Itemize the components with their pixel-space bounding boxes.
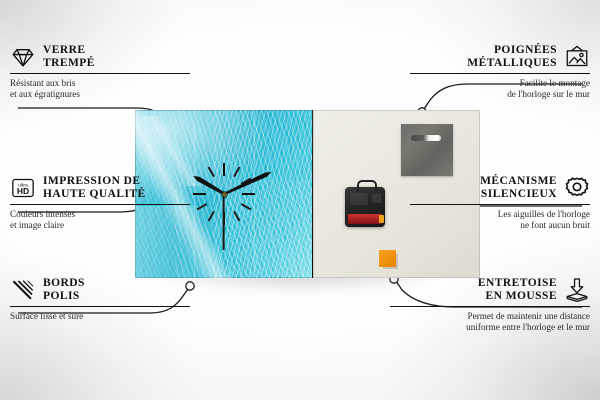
callout-header: ultra HD IMPRESSION DEHAUTE QUALITÉ [10, 175, 190, 201]
diagonal-lines-icon [10, 277, 36, 303]
callout-title: IMPRESSION DEHAUTE QUALITÉ [43, 175, 146, 201]
callout-subtitle: Les aiguilles de l'horlogene font aucun … [410, 209, 590, 231]
clock-second-hand [223, 194, 225, 250]
foam-spacer-pad [379, 250, 396, 267]
callout-rule [410, 73, 590, 74]
callout-title: MÉCANISMESILENCIEUX [480, 175, 557, 201]
mechanism-detail [350, 193, 368, 205]
callout-title: ENTRETOISEEN MOUSSE [478, 277, 557, 303]
callout-rule [10, 204, 190, 205]
callout-header: BORDSPOLIS [10, 277, 190, 303]
callout-subtitle: Facilite le montagede l'horloge sur le m… [410, 78, 590, 100]
callout-header: POIGNÉESMÉTALLIQUES [410, 44, 590, 70]
ultra-hd-icon: ultra HD [10, 175, 36, 201]
callout-mecanisme-silencieux: MÉCANISMESILENCIEUX Les aiguilles de l'h… [410, 175, 590, 231]
callout-header: ENTRETOISEEN MOUSSE [390, 277, 590, 303]
callout-bords-polis: BORDSPOLIS Surface lisse et sûre [10, 277, 190, 322]
arrow-down-layers-icon [564, 277, 590, 303]
callout-title: BORDSPOLIS [43, 277, 85, 303]
ultra-hd-icon-large-text: HD [17, 186, 29, 196]
mechanism-detail [372, 194, 381, 203]
hanger-keyhole-slot [411, 135, 441, 141]
callout-header: MÉCANISMESILENCIEUX [410, 175, 590, 201]
hanging-frame-icon [564, 44, 590, 70]
callout-poignees-metalliques: POIGNÉESMÉTALLIQUES Facilite le montaged… [410, 44, 590, 100]
mechanism-hanging-loop [357, 180, 377, 192]
callout-title: VERRETREMPÉ [43, 44, 95, 70]
battery-terminal [379, 215, 384, 223]
metal-hanger-plate [401, 124, 453, 176]
callout-title: POIGNÉESMÉTALLIQUES [467, 44, 557, 70]
callout-subtitle: Permet de maintenir une distanceuniforme… [390, 311, 590, 333]
callout-subtitle: Résistant aux briset aux égratignures [10, 78, 190, 100]
callout-entretoise-mousse: ENTRETOISEEN MOUSSE Permet de maintenir … [390, 277, 590, 333]
diamond-icon [10, 44, 36, 70]
callout-verre-trempe: VERRETREMPÉ Résistant aux briset aux égr… [10, 44, 190, 100]
callout-subtitle: Surface lisse et sûre [10, 311, 190, 322]
callout-rule [10, 73, 190, 74]
callout-impression-hd: ultra HD IMPRESSION DEHAUTE QUALITÉ Coul… [10, 175, 190, 231]
callout-rule [10, 306, 190, 307]
clock-center-cap [222, 192, 227, 197]
gear-icon [564, 175, 590, 201]
callout-rule [410, 204, 590, 205]
quartz-mechanism-box [345, 187, 385, 227]
battery [348, 214, 382, 224]
callout-subtitle: Couleurs intenseset image claire [10, 209, 190, 231]
infographic-canvas: VERRETREMPÉ Résistant aux briset aux égr… [0, 0, 600, 400]
callout-rule [390, 306, 590, 307]
callout-header: VERRETREMPÉ [10, 44, 190, 70]
